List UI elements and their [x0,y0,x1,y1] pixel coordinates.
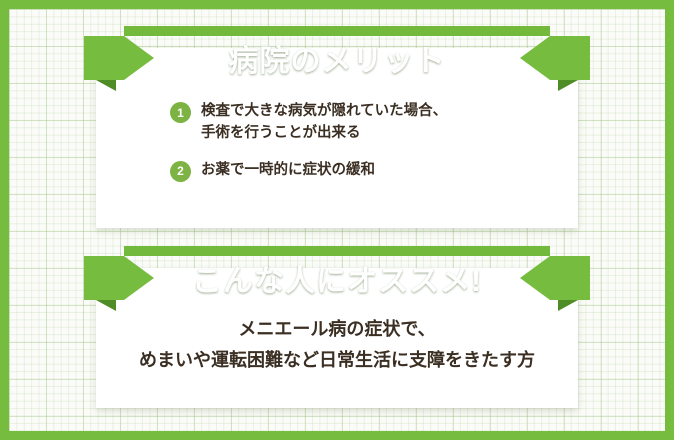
list-item: 1 検査で大きな病気が隠れていた場合、 手術を行うことが出来る [170,100,570,145]
ribbon-fold-left [96,80,116,91]
merit-list: 1 検査で大きな病気が隠れていた場合、 手術を行うことが出来る 2 お薬で一時的… [170,100,570,196]
infographic-root: 病院のメリット 1 検査で大きな病気が隠れていた場合、 手術を行うことが出来る … [0,0,674,440]
ribbon-fold-right [558,80,578,91]
recommendation-text: メニエール病の症状で、 めまいや運転困難など日常生活に支障をきたす方 [96,268,578,408]
list-item: 2 お薬で一時的に症状の緩和 [170,159,570,182]
list-number-badge: 1 [170,102,191,123]
ribbon-title-merits: 病院のメリット [84,36,590,80]
ribbon-upper-band [124,26,550,36]
list-number-badge: 2 [170,161,191,182]
list-item-text: 検査で大きな病気が隠れていた場合、 手術を行うことが出来る [201,100,447,145]
ribbon-banner-merits: 病院のメリット [84,26,590,90]
list-item-text: お薬で一時的に症状の緩和 [201,159,375,181]
ribbon-upper-band [124,246,550,256]
